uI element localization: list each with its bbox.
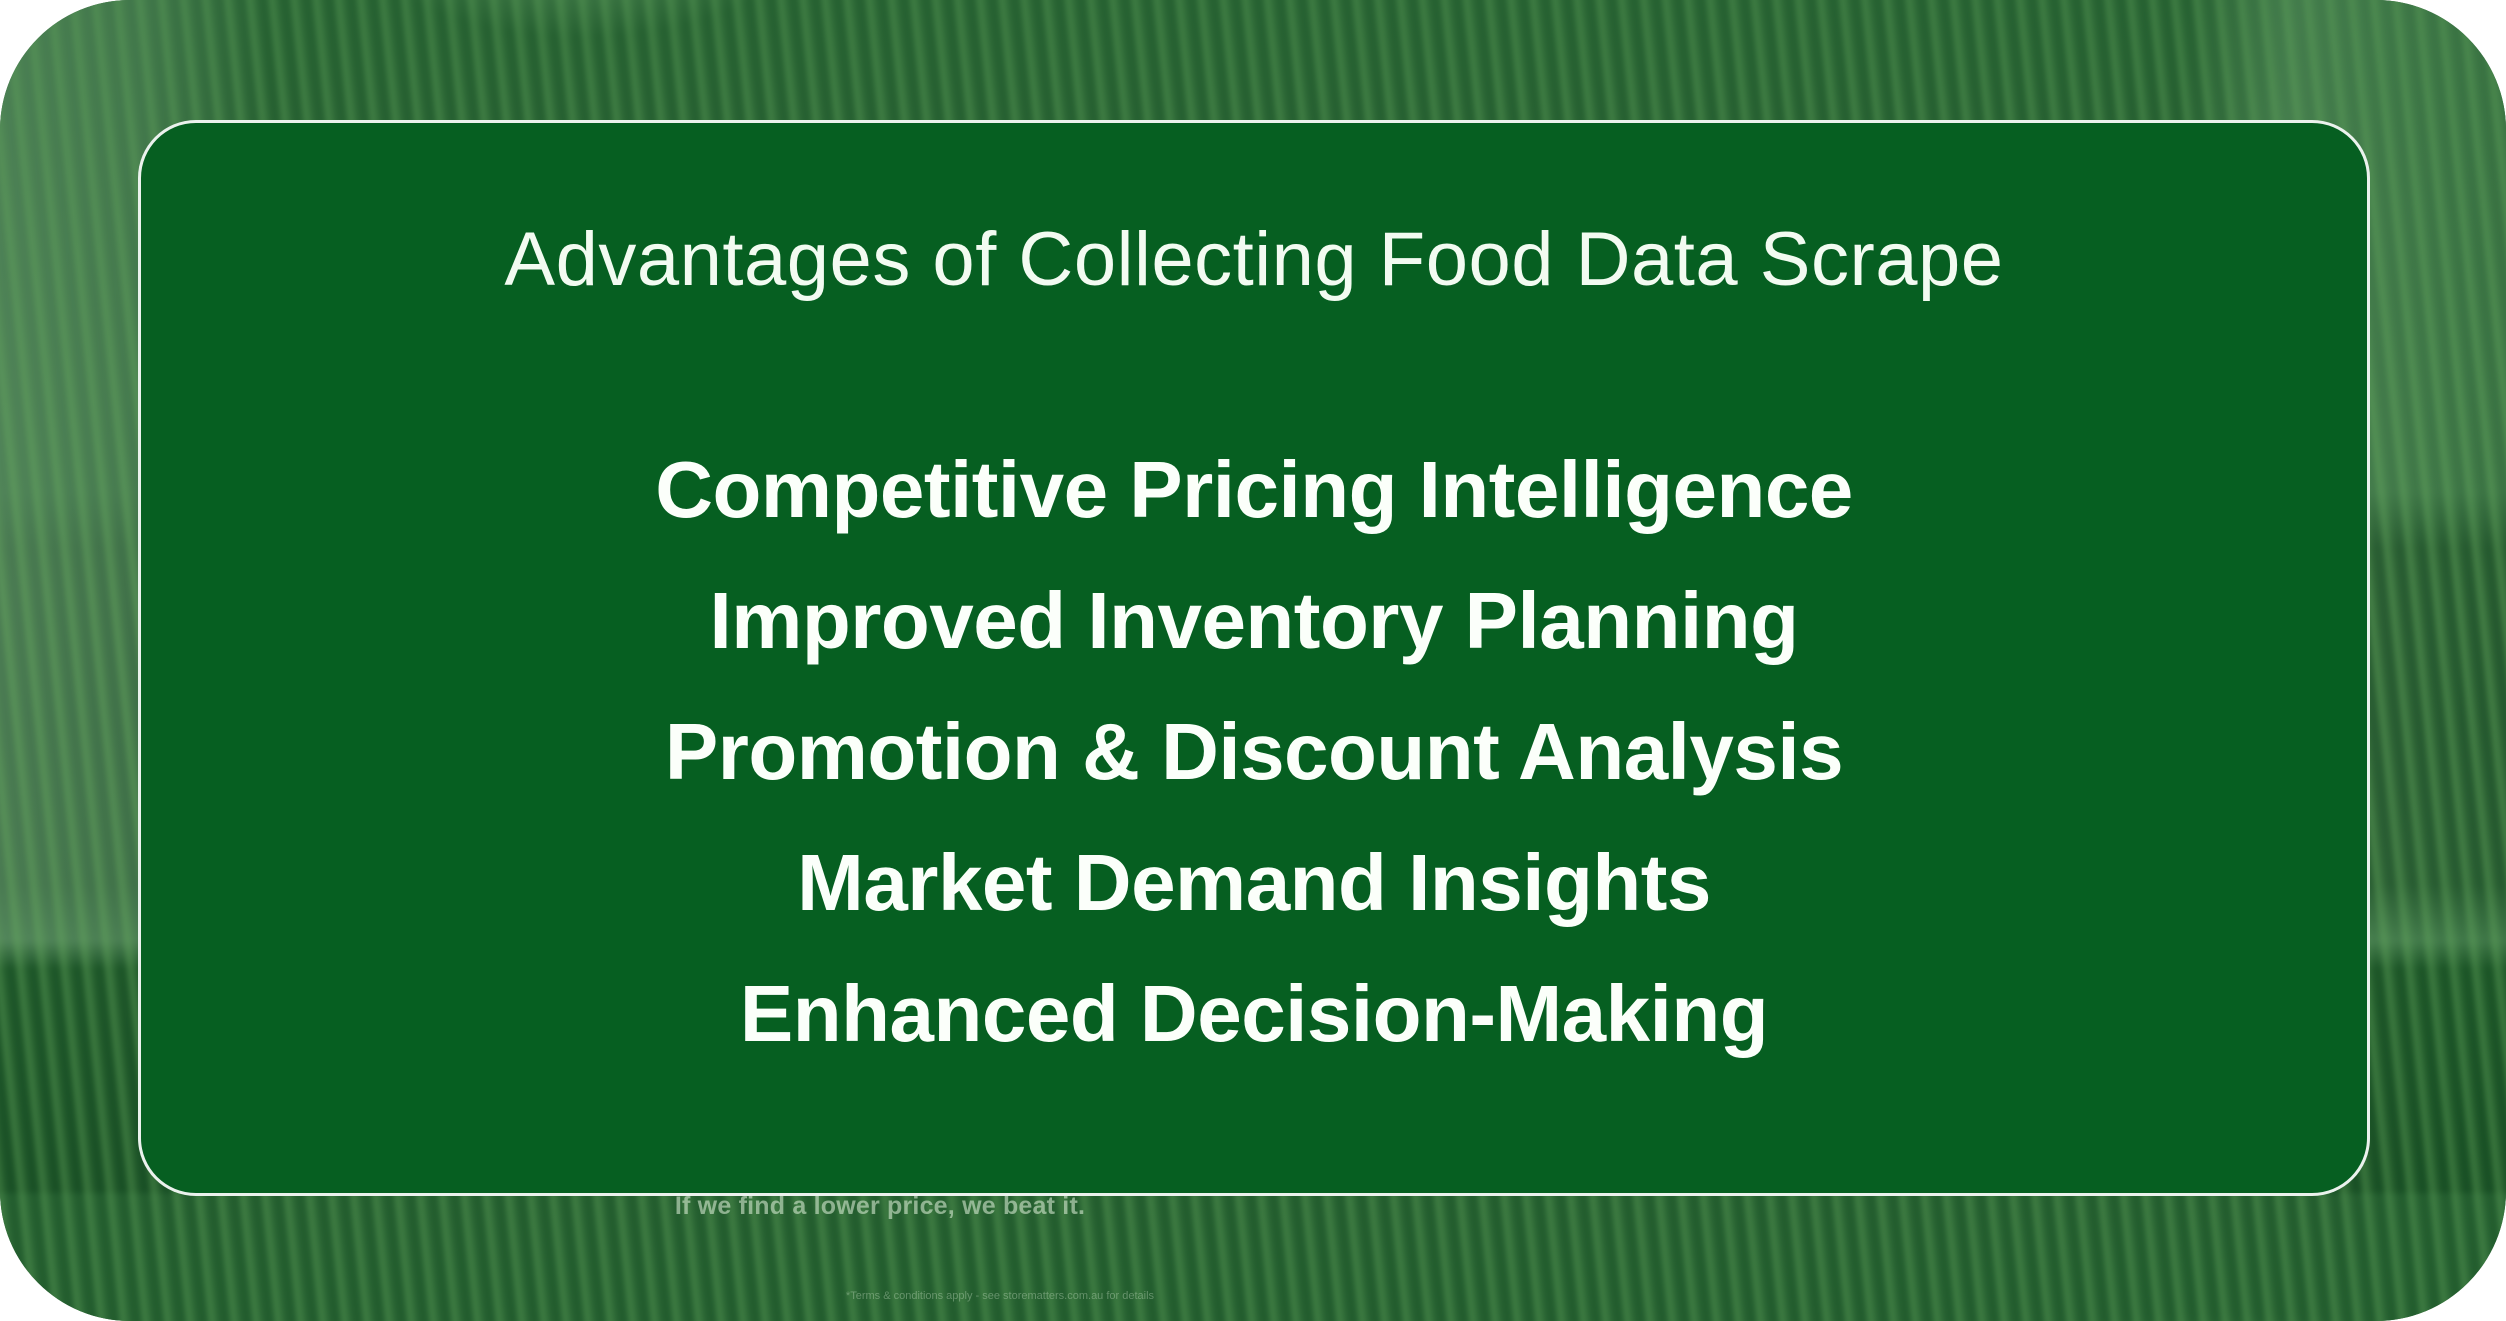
background-banner-subcaption: *Terms & conditions apply - see storemat…: [760, 1290, 1240, 1302]
background-banner-caption: If we find a lower price, we beat it.: [530, 1192, 1230, 1221]
benefits-list: Competitive Pricing Intelligence Improve…: [201, 450, 2307, 1054]
benefit-item-market-demand-insights: Market Demand Insights: [797, 843, 1711, 923]
advantages-card: Advantages of Collecting Food Data Scrap…: [138, 120, 2370, 1196]
card-title: Advantages of Collecting Food Data Scrap…: [504, 216, 2003, 303]
benefit-item-improved-inventory-planning: Improved Inventory Planning: [710, 581, 1799, 661]
poster-container: If we find a lower price, we beat it. *T…: [0, 0, 2506, 1321]
benefit-item-promotion-discount-analysis: Promotion & Discount Analysis: [665, 712, 1843, 792]
benefit-item-competitive-pricing-intelligence: Competitive Pricing Intelligence: [655, 450, 1853, 530]
benefit-item-enhanced-decision-making: Enhanced Decision-Making: [740, 974, 1768, 1054]
